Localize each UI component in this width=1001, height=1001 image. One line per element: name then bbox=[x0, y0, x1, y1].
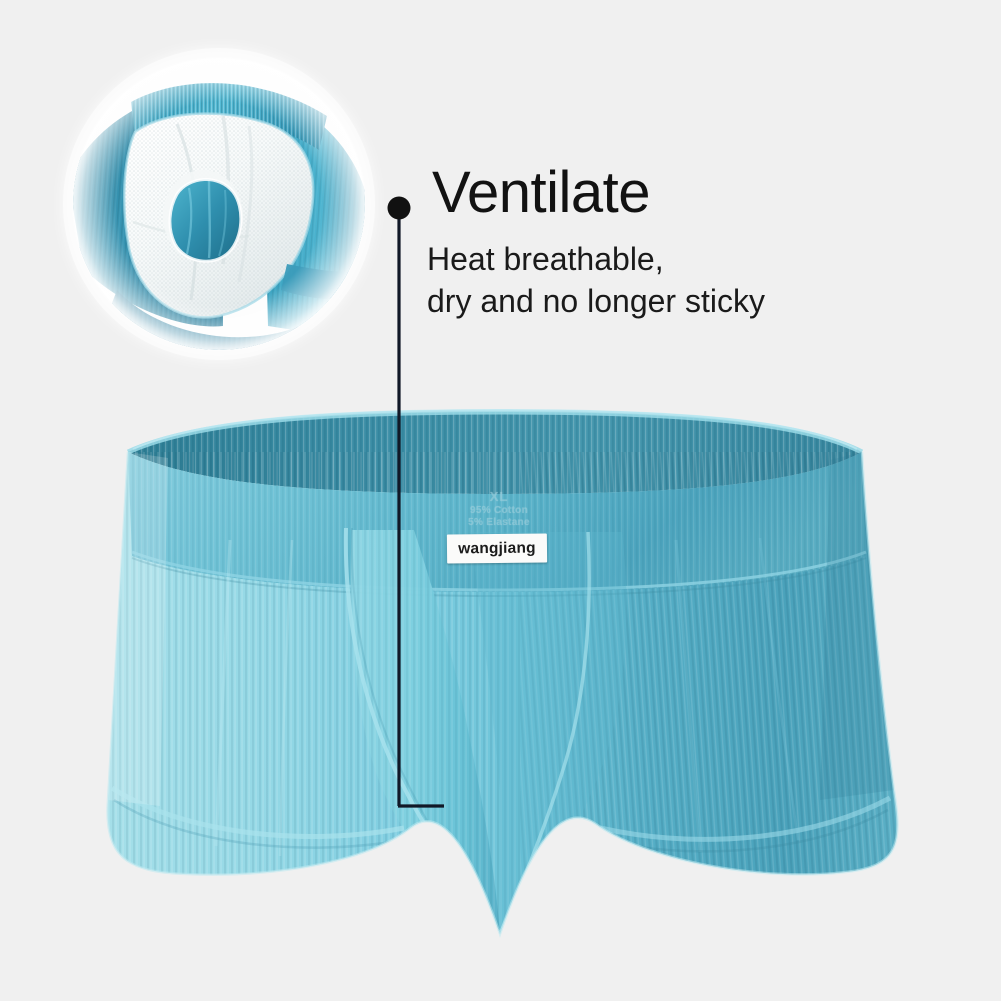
brand-label-text: wangjiang bbox=[458, 539, 536, 558]
composition-line-1: 95% Cotton bbox=[424, 505, 574, 516]
inset-circle-clip bbox=[73, 58, 365, 350]
feature-title: Ventilate bbox=[432, 162, 650, 224]
callout-marker-dot bbox=[388, 197, 411, 220]
product-feature-image: XL 95% Cotton 5% Elastane wangjiang Vent… bbox=[0, 0, 1001, 1001]
composition-line-2: 5% Elastane bbox=[424, 517, 574, 528]
feature-description: Heat breathable, dry and no longer stick… bbox=[427, 238, 765, 322]
inset-artwork bbox=[73, 58, 365, 350]
feature-description-line-2: dry and no longer sticky bbox=[427, 283, 765, 319]
feature-description-line-1: Heat breathable, bbox=[427, 241, 664, 277]
ventilation-closeup-inset bbox=[73, 58, 365, 350]
brand-label-tag: wangjiang bbox=[447, 533, 547, 563]
size-print: XL bbox=[424, 489, 574, 504]
